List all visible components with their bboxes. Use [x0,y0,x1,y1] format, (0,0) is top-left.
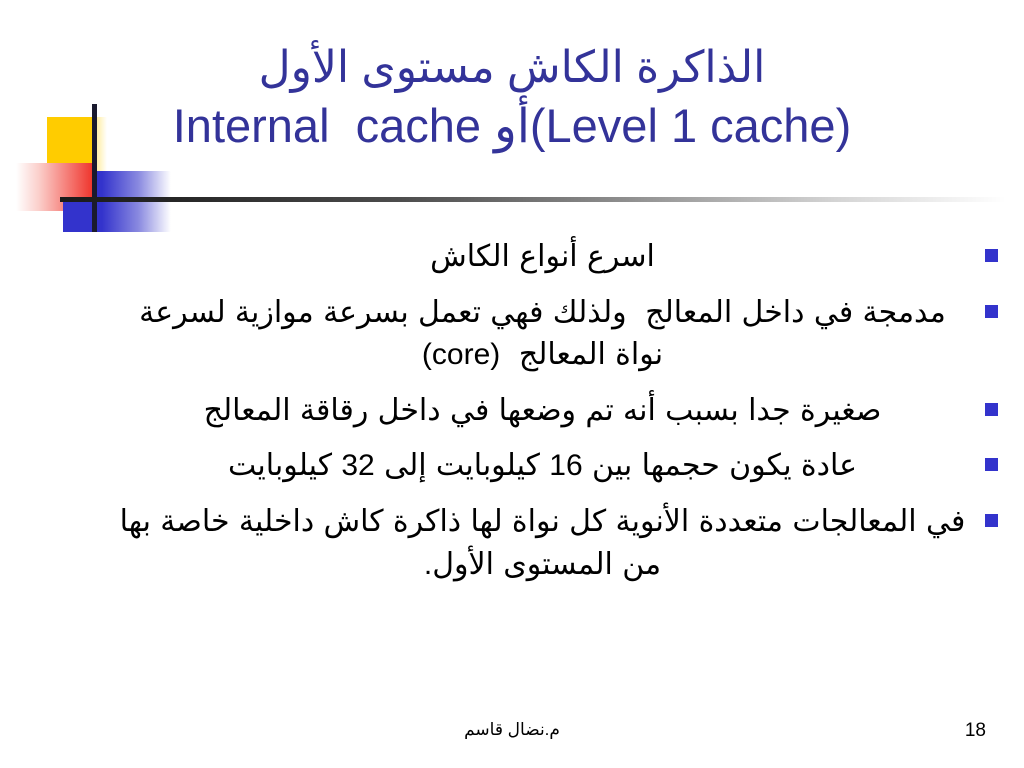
list-item: اسرع أنواع الكاش [118,236,998,279]
page-title: الذاكرة الكاش مستوى الأول (Level 1 cache… [0,40,1024,156]
list-item-text: في المعالجات متعددة الأنوية كل نواة لها … [118,501,967,586]
list-item-text: مدمجة في داخل المعالج ولذلك فهي تعمل بسر… [118,292,967,377]
logo-blue-square [63,202,94,232]
bullet-square-icon [985,458,998,471]
list-item: صغيرة جدا بسبب أنه تم وضعها في داخل رقاق… [118,390,998,433]
footer-page-number: 18 [965,720,986,742]
list-item-text: عادة يكون حجمها بين 16 كيلوبايت إلى 32 ك… [118,445,967,488]
bullet-square-icon [985,305,998,318]
list-item: في المعالجات متعددة الأنوية كل نواة لها … [118,501,998,586]
slide-canvas: الذاكرة الكاش مستوى الأول (Level 1 cache… [0,0,1024,768]
logo-red-rectangle [16,163,96,211]
slide-footer: م.نضال قاسم 18 [0,720,1024,750]
list-item: عادة يكون حجمها بين 16 كيلوبايت إلى 32 ك… [118,445,998,488]
title-divider-line [60,197,1006,202]
footer-author: م.نضال قاسم [0,720,1024,740]
list-item-text: صغيرة جدا بسبب أنه تم وضعها في داخل رقاق… [118,390,967,433]
list-item: مدمجة في داخل المعالج ولذلك فهي تعمل بسر… [118,292,998,377]
bullet-square-icon [985,249,998,262]
page-title-line-2: (Level 1 cache)أو Internal cache [0,96,1024,156]
page-title-line-1: الذاكرة الكاش مستوى الأول [0,40,1024,96]
bullet-square-icon [985,403,998,416]
bullet-square-icon [985,514,998,527]
list-item-text: اسرع أنواع الكاش [118,236,967,279]
bullet-list: اسرع أنواع الكاش مدمجة في داخل المعالج و… [118,236,998,599]
